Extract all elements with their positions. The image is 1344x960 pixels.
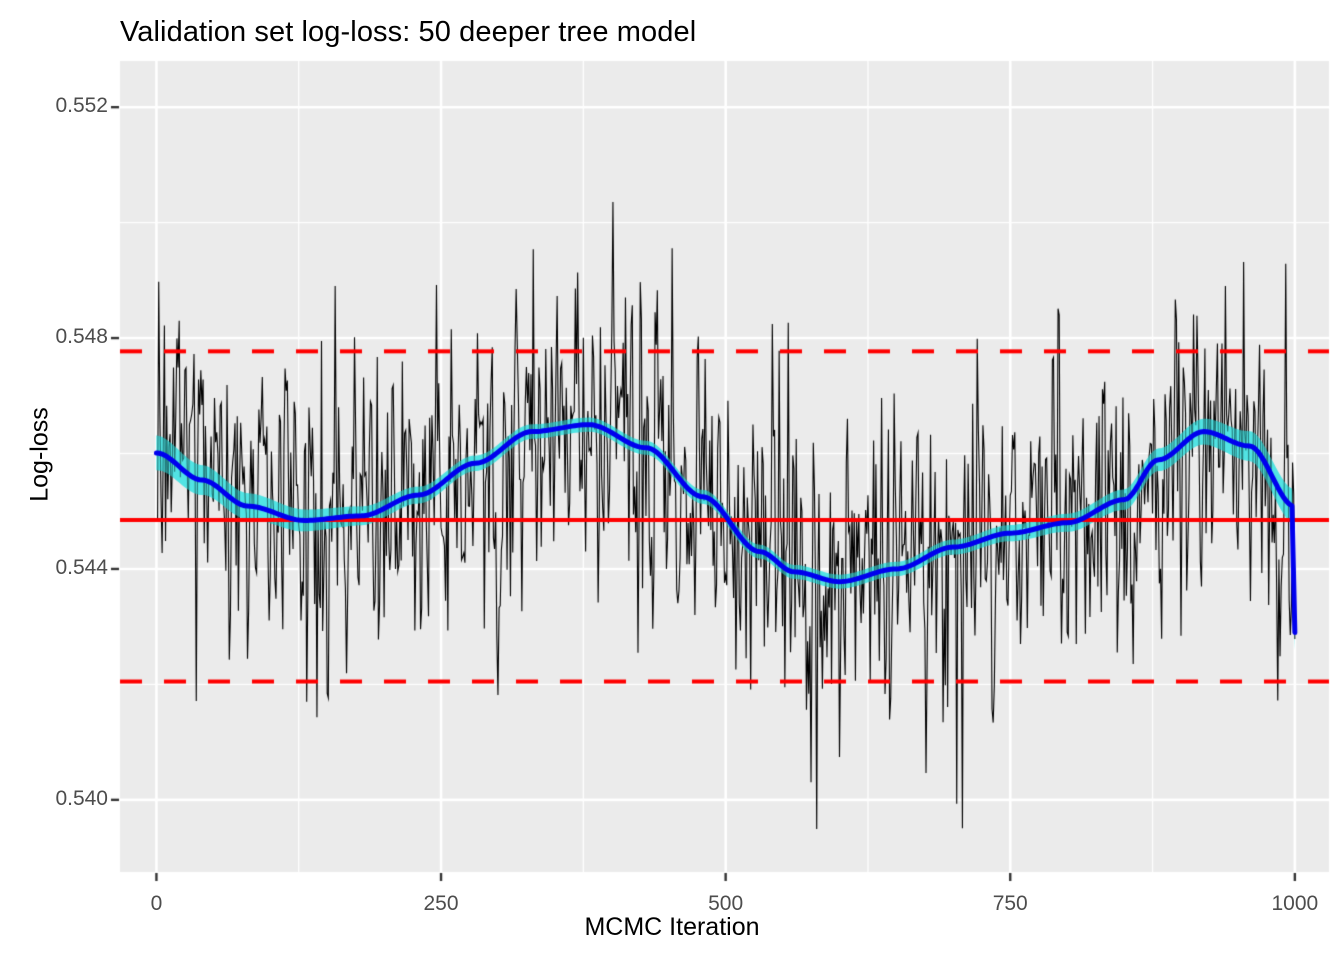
page-title: Validation set log-loss: 50 deeper tree … (120, 16, 696, 49)
chart-root: Validation set log-loss: 50 deeper tree … (0, 0, 1344, 960)
trace-plot-canvas (0, 0, 1344, 960)
y-axis-title: Log-loss (26, 355, 55, 555)
y-tick-label: 0.552 (8, 94, 108, 118)
x-tick-label: 0 (96, 892, 216, 916)
x-tick-label: 1000 (1235, 892, 1344, 916)
x-axis-title: MCMC Iteration (0, 913, 1344, 942)
y-tick-label: 0.548 (8, 325, 108, 349)
y-tick-label: 0.544 (8, 556, 108, 580)
x-tick-label: 750 (950, 892, 1070, 916)
x-tick-label: 500 (666, 892, 786, 916)
x-tick-label: 250 (381, 892, 501, 916)
y-tick-label: 0.540 (8, 787, 108, 811)
